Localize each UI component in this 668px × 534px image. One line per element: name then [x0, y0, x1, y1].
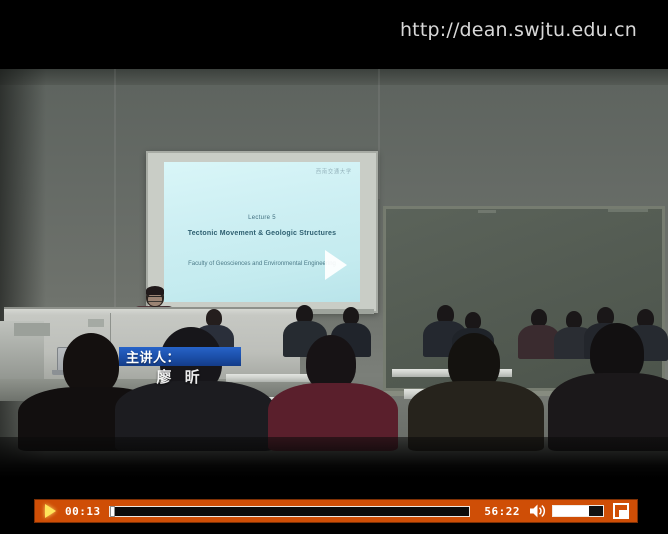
lecturer-glasses [148, 296, 162, 302]
chalk-mark [478, 210, 496, 213]
speaker-volume-icon[interactable] [529, 503, 546, 519]
chalk-mark [608, 209, 648, 212]
fullscreen-icon[interactable] [613, 503, 629, 519]
play-icon[interactable] [42, 502, 58, 520]
slide-faculty: Faculty of Geosciences and Environmental… [178, 259, 346, 270]
lecturer-hair [146, 286, 164, 295]
podium-panel [88, 319, 104, 327]
student-head [63, 333, 119, 395]
foreground-shadow [0, 437, 668, 478]
player-area: 00:13 56:22 [0, 478, 668, 534]
current-time-label: 00:13 [65, 505, 101, 518]
wall-seam [114, 69, 116, 329]
ceiling-strip [0, 69, 668, 85]
video-player-page: http://dean.swjtu.edu.cn 西南交通大学 Lecture … [0, 0, 668, 534]
total-time-label: 56:22 [484, 505, 520, 518]
play-triangle-icon[interactable] [325, 250, 347, 280]
site-url-text: http://dean.swjtu.edu.cn [400, 19, 637, 41]
top-banner: http://dean.swjtu.edu.cn [0, 0, 668, 69]
speaker-name-row: 廖 昕 [119, 366, 241, 386]
volume-fill [553, 506, 589, 516]
speaker-label: 主讲人： [126, 347, 180, 366]
progress-knob[interactable] [110, 506, 115, 517]
university-logo: 西南交通大学 [316, 167, 352, 175]
slide-lecture-number: Lecture 5 [164, 215, 360, 221]
video-frame[interactable]: 西南交通大学 Lecture 5 Tectonic Movement & Geo… [0, 69, 668, 478]
progress-bar[interactable] [109, 506, 471, 517]
slide-surface: 西南交通大学 Lecture 5 Tectonic Movement & Geo… [164, 162, 360, 302]
wall-seam [378, 69, 380, 199]
slide-title: Tectonic Movement & Geologic Structures [164, 230, 360, 237]
speaker-banner: 主讲人： [119, 347, 241, 366]
speaker-name: 廖 昕 [156, 366, 203, 387]
player-control-bar: 00:13 56:22 [34, 499, 638, 523]
podium-panel [14, 323, 50, 336]
volume-slider[interactable] [552, 505, 604, 517]
projection-screen: 西南交通大学 Lecture 5 Tectonic Movement & Geo… [146, 151, 378, 313]
